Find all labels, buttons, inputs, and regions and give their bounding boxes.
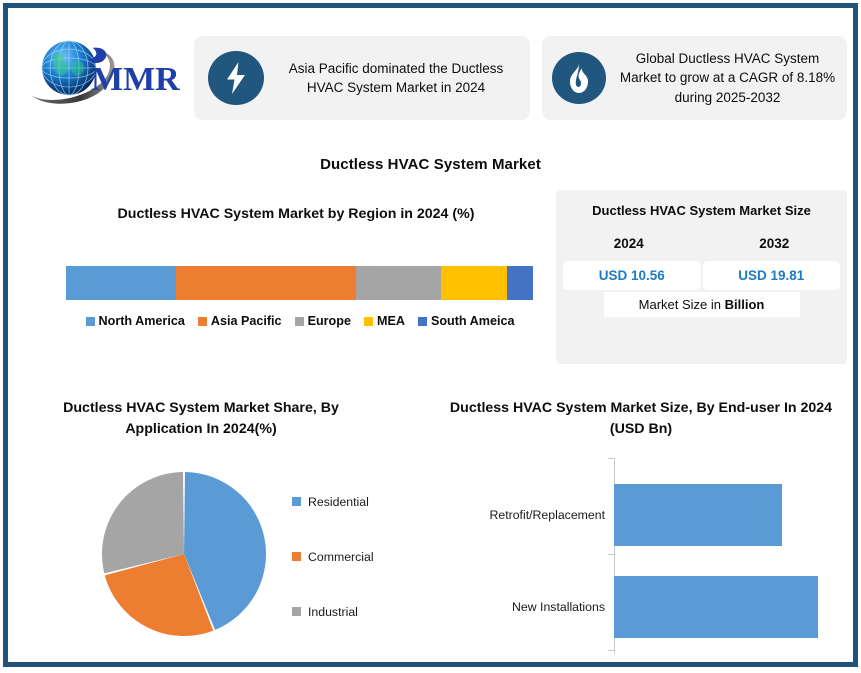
legend-label: South Ameica	[431, 314, 515, 328]
legend-swatch-icon	[292, 607, 301, 616]
legend-swatch-icon	[364, 317, 373, 326]
flame-icon	[552, 52, 606, 104]
legend-swatch-icon	[295, 317, 304, 326]
axis-tick	[608, 554, 614, 555]
region-segment	[356, 266, 441, 300]
legend-label: MEA	[377, 314, 405, 328]
legend-label: Industrial	[308, 605, 358, 619]
region-stacked-bar	[66, 266, 533, 300]
end-user-bar-plot: Retrofit/ReplacementNew Installations	[446, 458, 841, 654]
region-segment	[66, 266, 176, 300]
bar-category-label: New Installations	[446, 600, 614, 614]
legend-label: Europe	[308, 314, 351, 328]
region-segment	[507, 266, 533, 300]
end-user-bar-panel: Ductless HVAC System Market Size, By End…	[446, 398, 846, 660]
legend-label: Commercial	[308, 550, 374, 564]
footer-unit: Billion	[725, 297, 765, 312]
application-pie-title: Ductless HVAC System Market Share, By Ap…	[36, 398, 366, 439]
legend-swatch-icon	[86, 317, 95, 326]
legend-label: Residential	[308, 495, 369, 509]
region-chart-title: Ductless HVAC System Market by Region in…	[46, 204, 546, 225]
pie-legend-item: Residential	[292, 474, 374, 529]
region-chart-panel: Ductless HVAC System Market by Region in…	[46, 204, 546, 356]
application-pie-legend: ResidentialCommercialIndustrial	[292, 474, 374, 639]
region-legend: North AmericaAsia PacificEuropeMEASouth …	[60, 314, 540, 328]
legend-swatch-icon	[198, 317, 207, 326]
mmr-globe-logo: MMR	[22, 32, 192, 112]
legend-swatch-icon	[292, 497, 301, 506]
value-end: USD 19.81	[703, 261, 841, 290]
infographic-page: MMR Asia Pacific dominated the Ductless …	[0, 0, 861, 673]
logo-wordmark: MMR	[91, 61, 180, 98]
market-size-years: 2024 2032	[556, 236, 847, 251]
page-title: Ductless HVAC System Market	[8, 156, 853, 173]
year-end-label: 2032	[702, 236, 848, 251]
market-size-title: Ductless HVAC System Market Size	[556, 190, 847, 220]
footer-prefix: Market Size in	[639, 297, 725, 312]
callout-cagr: Global Ductless HVAC System Market to gr…	[542, 36, 847, 120]
pie-legend-item: Industrial	[292, 584, 374, 639]
region-legend-item: MEA	[364, 314, 405, 328]
bar-fill	[614, 576, 818, 638]
region-legend-item: North America	[86, 314, 185, 328]
callout-text: Global Ductless HVAC System Market to gr…	[618, 49, 837, 106]
axis-tick	[608, 458, 614, 459]
legend-swatch-icon	[418, 317, 427, 326]
end-user-bar-title: Ductless HVAC System Market Size, By End…	[446, 398, 836, 439]
callout-text: Asia Pacific dominated the Ductless HVAC…	[276, 59, 516, 97]
market-size-values: USD 10.56 USD 19.81	[556, 261, 847, 290]
legend-label: Asia Pacific	[211, 314, 282, 328]
lightning-bolt-icon	[208, 51, 264, 105]
market-size-footer: Market Size in Billion	[604, 292, 800, 317]
market-size-panel: Ductless HVAC System Market Size 2024 20…	[556, 190, 847, 364]
callout-asia-pacific: Asia Pacific dominated the Ductless HVAC…	[194, 36, 530, 120]
region-legend-item: Europe	[295, 314, 351, 328]
region-segment	[176, 266, 356, 300]
application-pie-chart	[84, 454, 284, 654]
region-segment	[441, 266, 508, 300]
legend-swatch-icon	[292, 552, 301, 561]
pie-legend-item: Commercial	[292, 529, 374, 584]
bar-row: New Installations	[446, 576, 841, 638]
bar-fill	[614, 484, 782, 546]
region-legend-item: South Ameica	[418, 314, 515, 328]
region-legend-item: Asia Pacific	[198, 314, 282, 328]
page-frame: MMR Asia Pacific dominated the Ductless …	[3, 3, 858, 667]
year-start-label: 2024	[556, 236, 702, 251]
bar-row: Retrofit/Replacement	[446, 484, 841, 546]
axis-tick	[608, 650, 614, 651]
value-start: USD 10.56	[563, 261, 701, 290]
legend-label: North America	[99, 314, 185, 328]
bar-category-label: Retrofit/Replacement	[446, 508, 614, 522]
application-pie-panel: Ductless HVAC System Market Share, By Ap…	[36, 398, 436, 660]
